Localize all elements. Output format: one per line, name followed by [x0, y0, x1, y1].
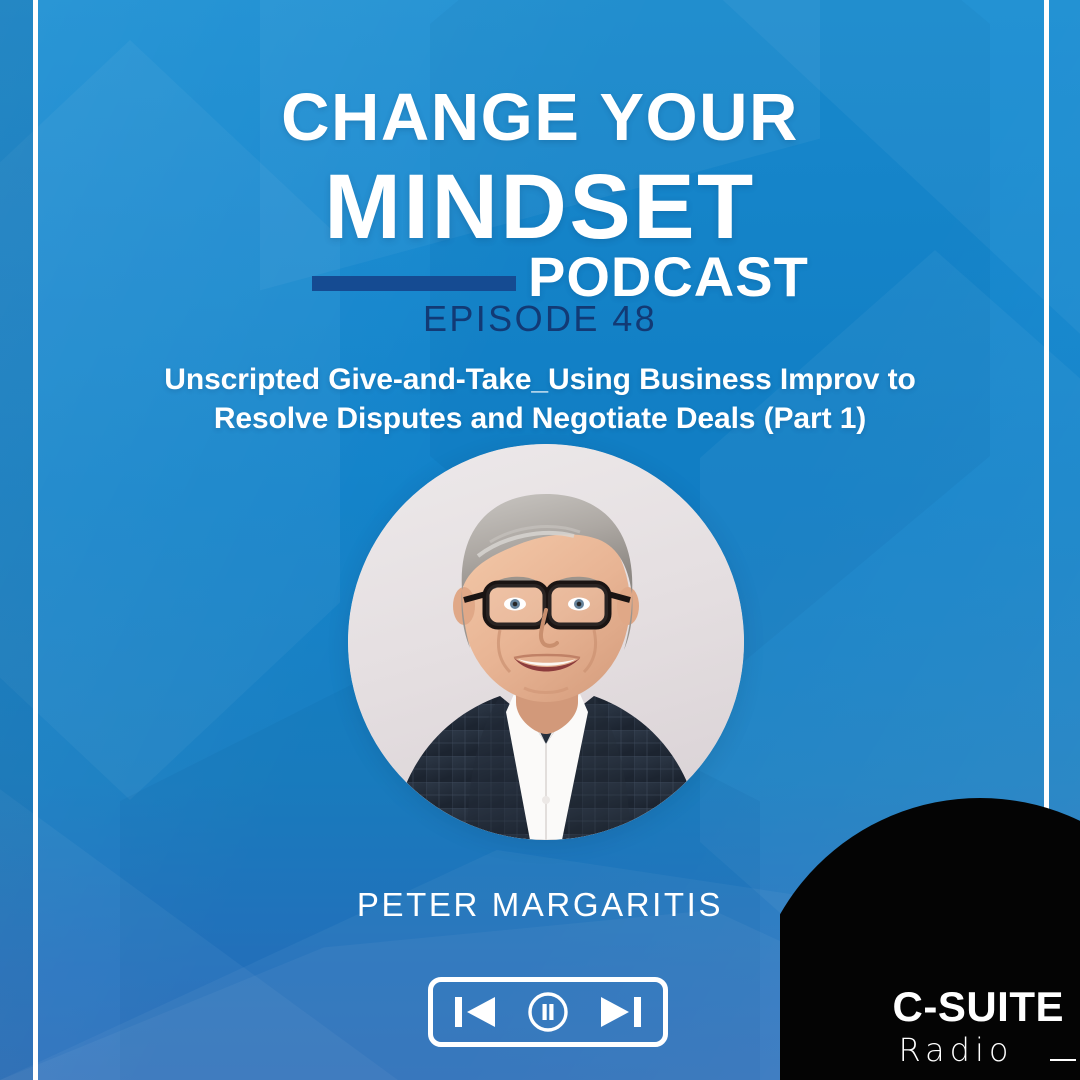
brand-title-line-3: PODCAST — [528, 249, 809, 305]
brand-accent-underline — [312, 276, 516, 291]
brand-title-line-1: CHANGE YOUR — [0, 0, 1080, 151]
audio-player-controls[interactable] — [428, 977, 668, 1047]
network-logo[interactable]: C-SUITE Radio — [893, 986, 1065, 1066]
pause-circle-icon — [527, 991, 569, 1033]
guest-portrait-image — [348, 444, 744, 840]
guest-name: PETER MARGARITIS — [0, 888, 1080, 921]
guest-portrait — [348, 444, 744, 840]
network-subtitle: Radio — [899, 1034, 1065, 1066]
podcast-cover-art: CHANGE YOUR MINDSET PODCAST EPISODE 48 U… — [0, 0, 1080, 1080]
brand-title-line-2: MINDSET — [0, 151, 1080, 253]
episode-number-label: EPISODE 48 — [0, 301, 1080, 337]
brand-lockup: CHANGE YOUR MINDSET PODCAST — [0, 0, 1080, 319]
skip-previous-icon — [453, 992, 499, 1032]
network-name: C-SUITE — [893, 986, 1065, 1028]
skip-next-icon — [597, 992, 643, 1032]
episode-title: Unscripted Give-and-Take_Using Business … — [120, 360, 960, 438]
previous-track-button[interactable] — [453, 992, 499, 1032]
next-track-button[interactable] — [597, 992, 643, 1032]
play-pause-button[interactable] — [527, 991, 569, 1033]
